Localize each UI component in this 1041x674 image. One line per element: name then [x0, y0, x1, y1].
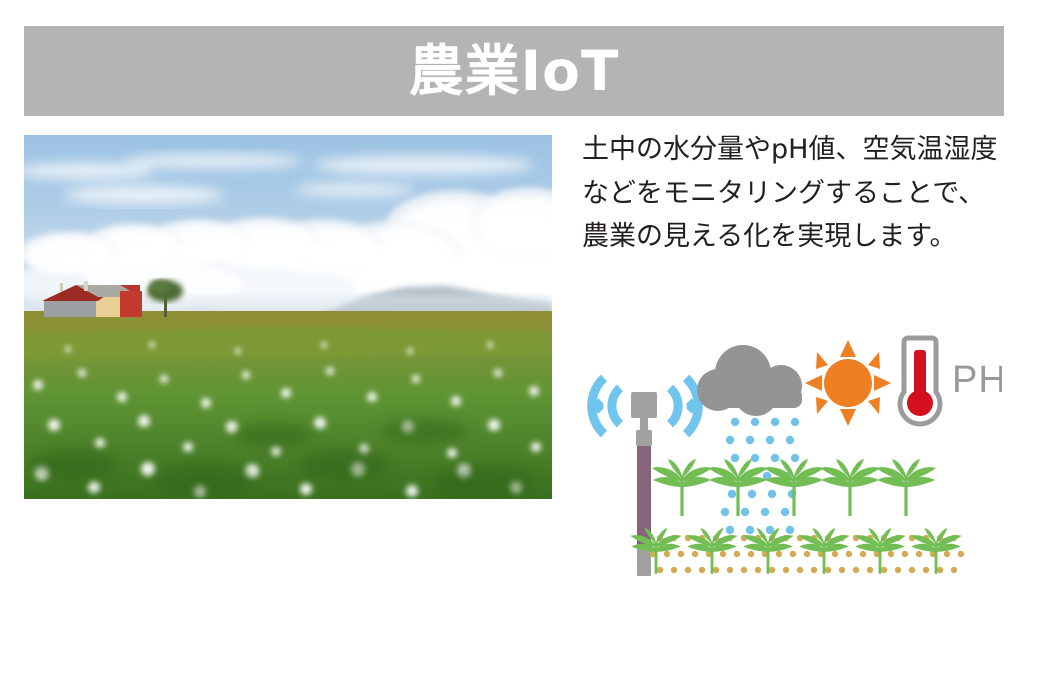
description-text: 土中の水分量やpH値、空気温湿度などをモニタリングすることで、農業の見える化を実… [582, 128, 1004, 259]
crops-back-row-icon [652, 459, 936, 516]
rain-cloud-icon [697, 345, 802, 416]
farm-field-photo [24, 135, 552, 499]
photo-illustration [24, 135, 552, 499]
iot-illustration: PH [570, 330, 1002, 585]
page-title: 農業IoT [409, 44, 620, 99]
iot-illustration-svg: PH [570, 330, 1002, 585]
thermometer-icon [900, 338, 940, 424]
ph-label: PH [952, 359, 1002, 401]
header-banner: 農業IoT [24, 26, 1004, 116]
sun-icon [805, 340, 891, 426]
description-block: 土中の水分量やpH値、空気温湿度などをモニタリングすることで、農業の見える化を実… [582, 128, 1012, 259]
